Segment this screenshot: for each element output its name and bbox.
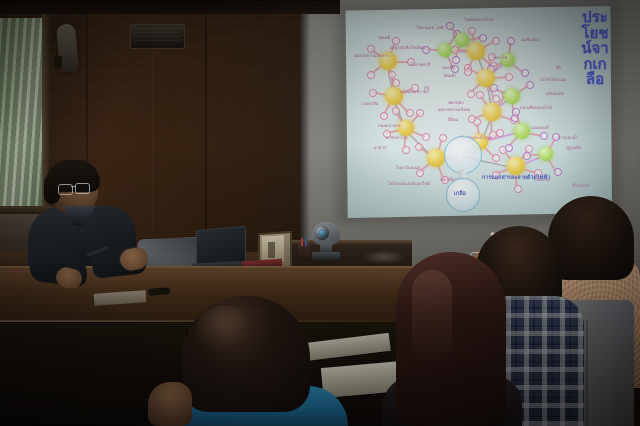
speaker-mount <box>54 56 62 68</box>
picture-frame-figure <box>268 242 275 258</box>
photo-scene: โซเดียมคลอไรด์โซดาแอช, เคมีปุ๋ยเคมีผงชูร… <box>0 0 640 426</box>
camera-lens-glass <box>318 229 326 237</box>
screen-vignette <box>344 6 612 218</box>
pen <box>305 237 307 246</box>
slide-title-vertical: ประโยชน์จากเกลือ <box>580 10 610 88</box>
wire-bundle <box>362 250 406 264</box>
ceiling-strip <box>0 0 340 14</box>
pen-cup <box>298 243 310 261</box>
ac-vent-louvers <box>133 28 180 43</box>
pen <box>301 238 303 246</box>
projection-screen: โซเดียมคลอไรด์โซดาแอช, เคมีปุ๋ยเคมีผงชูร… <box>344 6 612 218</box>
audience-long-hair-sheen <box>412 270 452 366</box>
office-chair-right-seam <box>586 320 588 426</box>
window-blinds <box>0 18 46 210</box>
audience-front-hair-sheen <box>196 306 252 350</box>
glasses-icon <box>75 183 90 194</box>
glasses-bridge <box>71 186 76 187</box>
audience-front-hand <box>148 382 192 426</box>
